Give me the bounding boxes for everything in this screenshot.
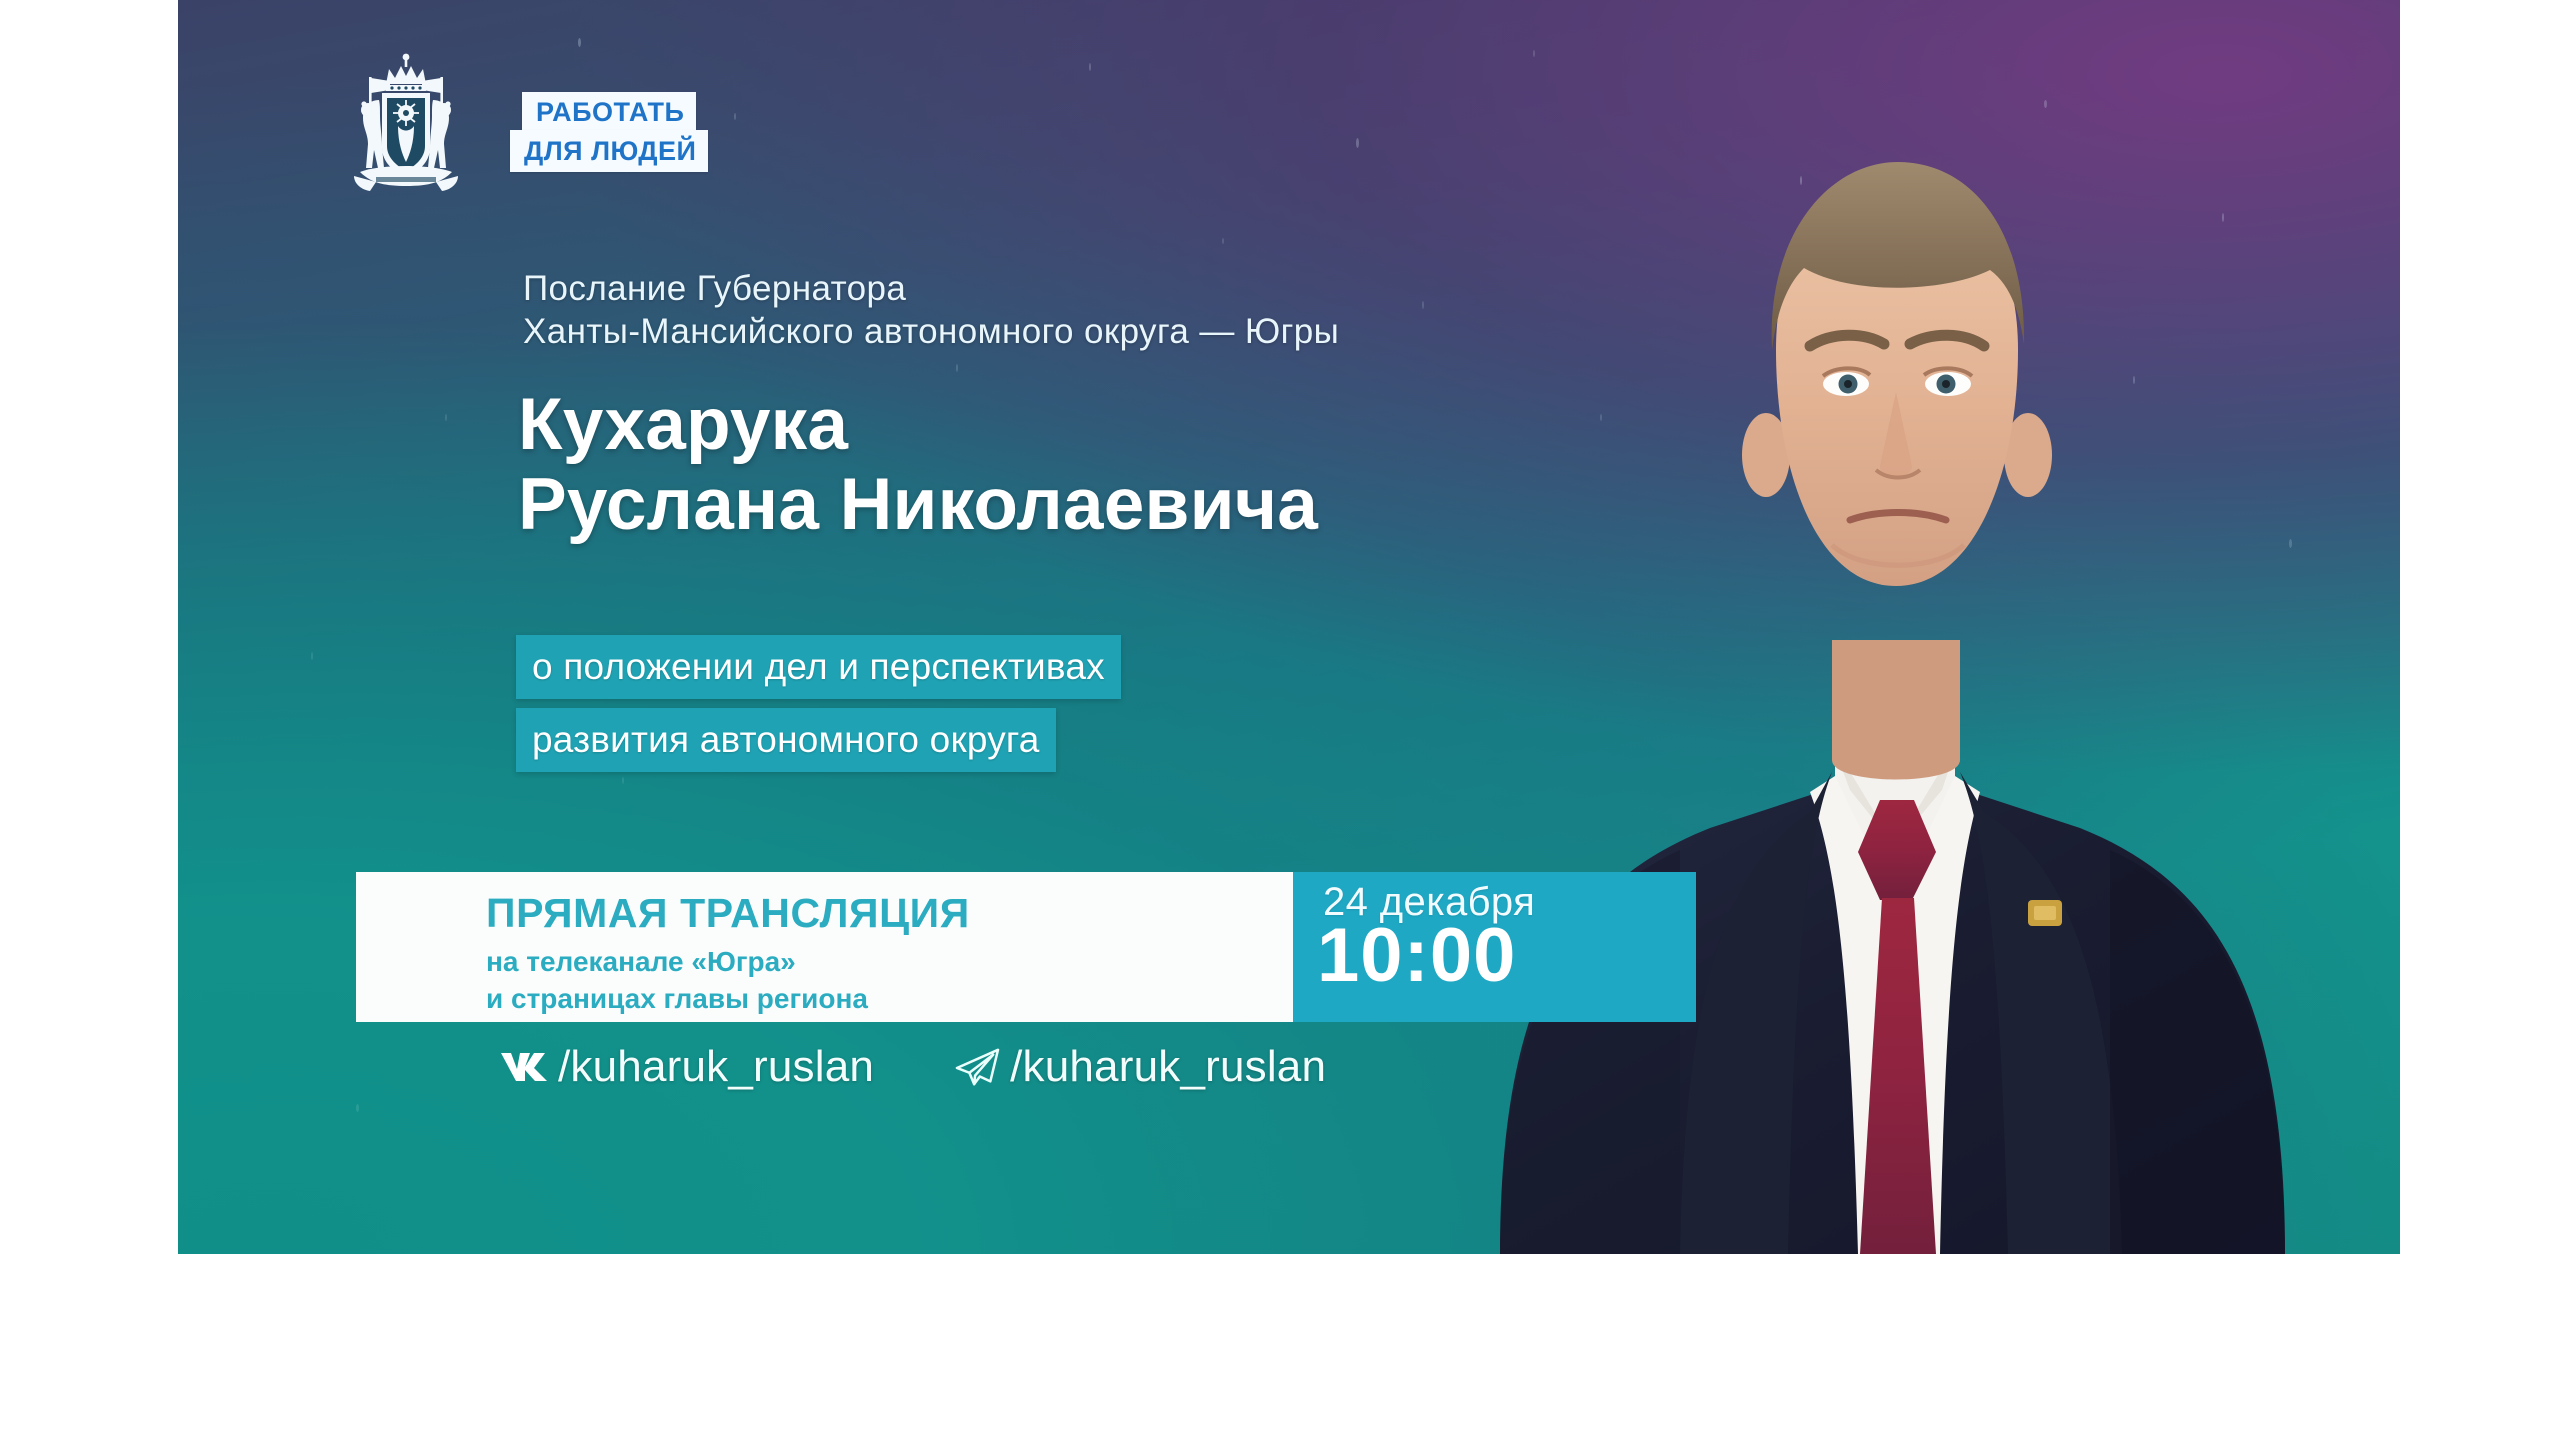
- broadcast-datetime-panel: 24 декабря 10:00: [1293, 872, 1696, 1022]
- page-root: РАБОТАТЬ ДЛЯ ЛЮДЕЙ Послание Губернатора …: [0, 0, 2575, 1448]
- slogan-badge: РАБОТАТЬ ДЛЯ ЛЮДЕЙ: [510, 92, 765, 172]
- social-links: /kuharuk_ruslan /kuharuk_ruslan: [498, 1042, 1326, 1092]
- broadcast-sub-line-1: на телеканале «Югра»: [486, 944, 868, 981]
- subtitle-line-1: о положении дел и перспективах: [516, 635, 1121, 699]
- subtitle-line-2: развития автономного округа: [516, 708, 1056, 772]
- announcement-banner: РАБОТАТЬ ДЛЯ ЛЮДЕЙ Послание Губернатора …: [178, 0, 2400, 1254]
- broadcast-strip: ПРЯМАЯ ТРАНСЛЯЦИЯ на телеканале «Югра» и…: [356, 872, 1696, 1022]
- eyebrow-line-2: Ханты-Мансийского автономного округа — Ю…: [523, 311, 1863, 354]
- slogan-line-1: РАБОТАТЬ: [522, 92, 696, 132]
- broadcast-sub-line-2: и страницах главы региона: [486, 981, 868, 1018]
- name-line-surname: Кухарука: [518, 385, 1918, 465]
- telegram-icon: [952, 1046, 1002, 1088]
- slogan-line-2: ДЛЯ ЛЮДЕЙ: [510, 130, 708, 172]
- broadcast-time: 10:00: [1317, 918, 1516, 994]
- name-line-given: Руслана Николаевича: [518, 465, 1918, 545]
- broadcast-subtitle: на телеканале «Югра» и страницах главы р…: [486, 944, 868, 1018]
- page-title: Кухарука Руслана Николаевича: [518, 385, 1918, 546]
- telegram-handle: /kuharuk_ruslan: [1010, 1042, 1326, 1092]
- vk-handle: /kuharuk_ruslan: [558, 1042, 874, 1092]
- eyebrow-text: Послание Губернатора Ханты-Мансийского а…: [523, 268, 1863, 353]
- social-link-vk[interactable]: /kuharuk_ruslan: [498, 1042, 874, 1092]
- broadcast-title: ПРЯМАЯ ТРАНСЛЯЦИЯ: [486, 890, 970, 937]
- governor-portrait: [1380, 0, 2400, 1254]
- eyebrow-line-1: Послание Губернатора: [523, 268, 1863, 311]
- coat-of-arms-icon: [346, 50, 466, 205]
- vk-icon: [498, 1050, 550, 1084]
- broadcast-info-panel: ПРЯМАЯ ТРАНСЛЯЦИЯ на телеканале «Югра» и…: [356, 872, 1293, 1022]
- subtitle-highlight: о положении дел и перспективах развития …: [516, 635, 1121, 781]
- social-link-telegram[interactable]: /kuharuk_ruslan: [952, 1042, 1326, 1092]
